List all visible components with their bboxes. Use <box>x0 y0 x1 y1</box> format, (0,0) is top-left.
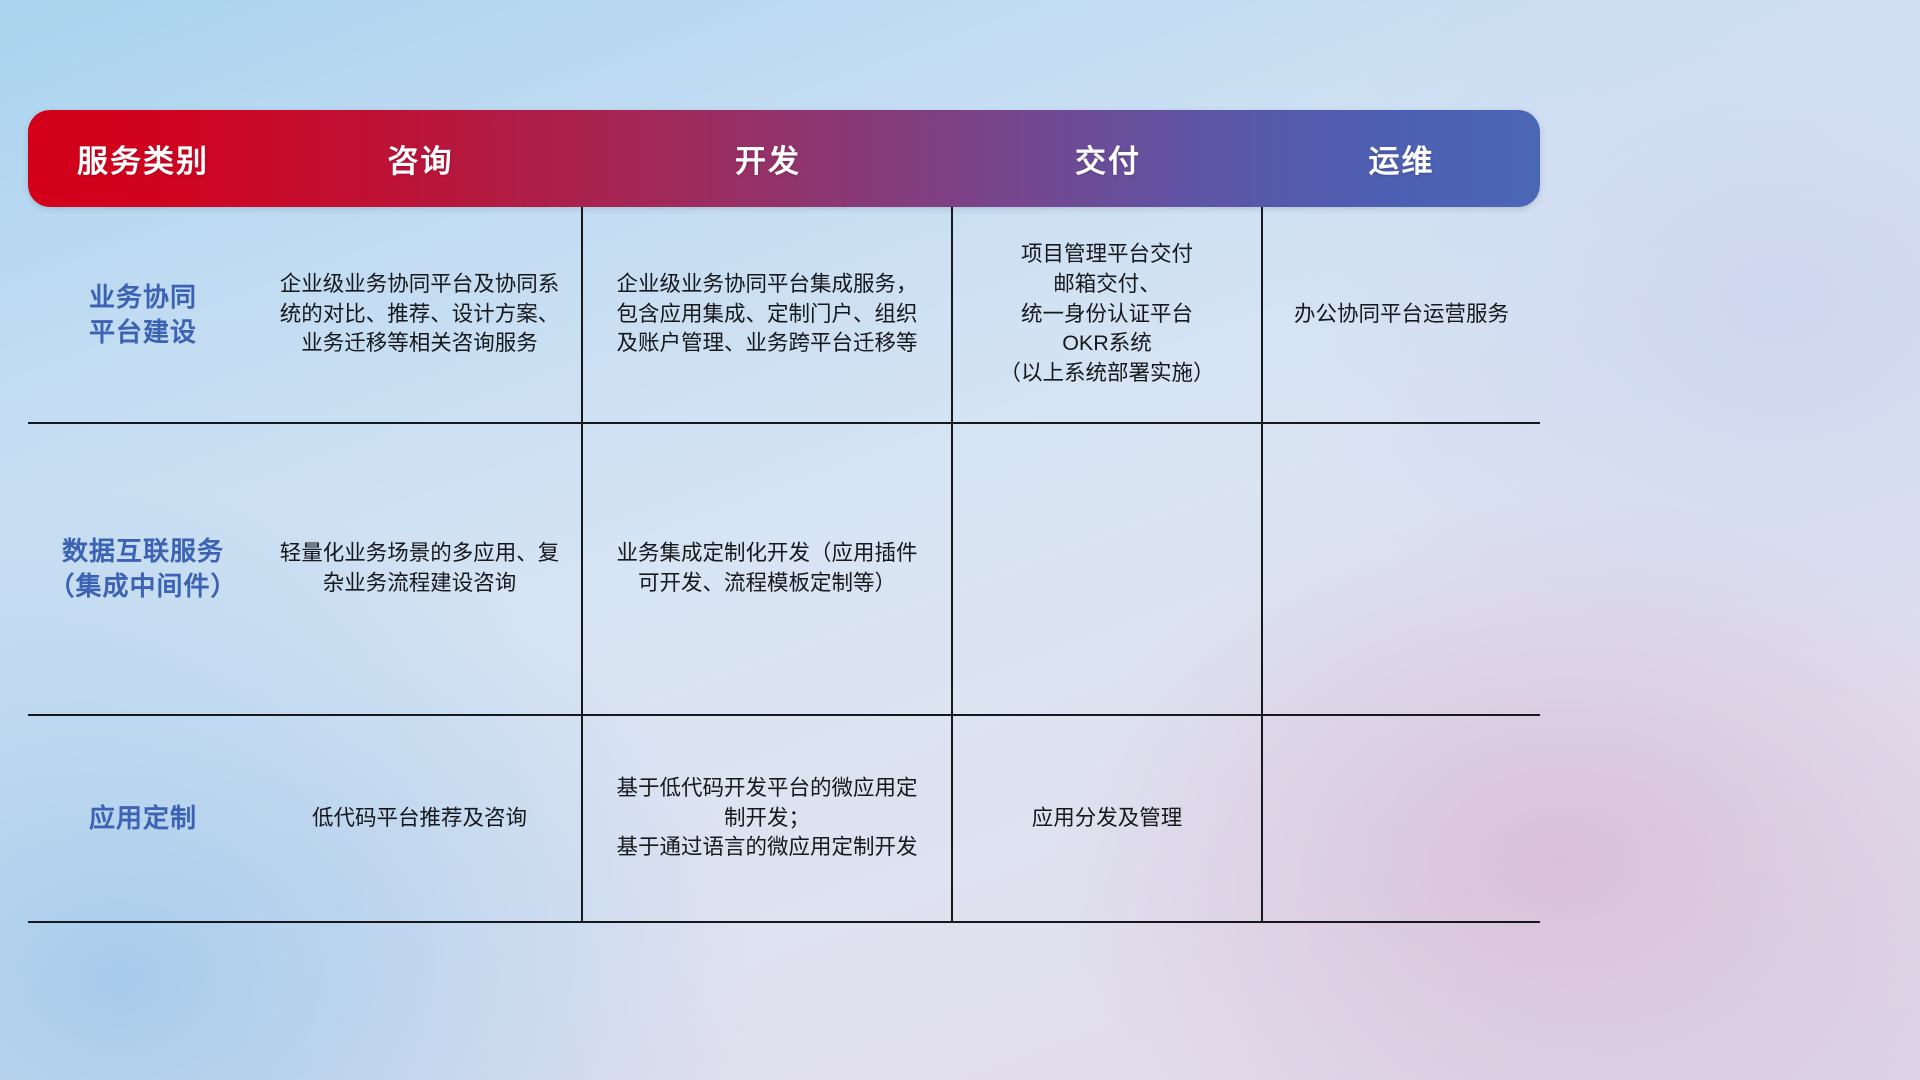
cell-development: 业务集成定制化开发（应用插件 可开发、流程模板定制等） <box>583 424 953 716</box>
header-cell-consulting: 咨询 <box>258 110 583 207</box>
service-matrix-table: 服务类别 咨询 开发 交付 运维 业务协同 平台建设 企业级业务协同平台及协同系… <box>28 110 1540 923</box>
cell-consulting: 低代码平台推荐及咨询 <box>258 716 583 923</box>
cell-consulting: 轻量化业务场景的多应用、复 杂业务流程建设咨询 <box>258 424 583 716</box>
cell-operations: 办公协同平台运营服务 <box>1263 207 1540 424</box>
header-cell-operations: 运维 <box>1263 110 1540 207</box>
table-row: 应用定制 低代码平台推荐及咨询 基于低代码开发平台的微应用定 制开发； 基于通过… <box>28 716 1540 923</box>
cell-operations <box>1263 716 1540 923</box>
header-cell-category: 服务类别 <box>28 110 258 207</box>
cell-development: 基于低代码开发平台的微应用定 制开发； 基于通过语言的微应用定制开发 <box>583 716 953 923</box>
header-cell-development: 开发 <box>583 110 953 207</box>
row-category-label: 数据互联服务 （集成中间件） <box>28 424 258 716</box>
cell-delivery <box>953 424 1263 716</box>
row-category-label: 业务协同 平台建设 <box>28 207 258 424</box>
slide-canvas: 服务类别 咨询 开发 交付 运维 业务协同 平台建设 企业级业务协同平台及协同系… <box>0 0 1920 1080</box>
table-header-row: 服务类别 咨询 开发 交付 运维 <box>28 110 1540 207</box>
cell-consulting: 企业级业务协同平台及协同系 统的对比、推荐、设计方案、 业务迁移等相关咨询服务 <box>258 207 583 424</box>
cell-delivery: 项目管理平台交付 邮箱交付、 统一身份认证平台 OKR系统 （以上系统部署实施） <box>953 207 1263 424</box>
cell-development: 企业级业务协同平台集成服务， 包含应用集成、定制门户、组织 及账户管理、业务跨平… <box>583 207 953 424</box>
row-category-label: 应用定制 <box>28 716 258 923</box>
header-cell-delivery: 交付 <box>953 110 1263 207</box>
cell-operations <box>1263 424 1540 716</box>
cell-delivery: 应用分发及管理 <box>953 716 1263 923</box>
table-row: 数据互联服务 （集成中间件） 轻量化业务场景的多应用、复 杂业务流程建设咨询 业… <box>28 424 1540 716</box>
table-row: 业务协同 平台建设 企业级业务协同平台及协同系 统的对比、推荐、设计方案、 业务… <box>28 207 1540 424</box>
